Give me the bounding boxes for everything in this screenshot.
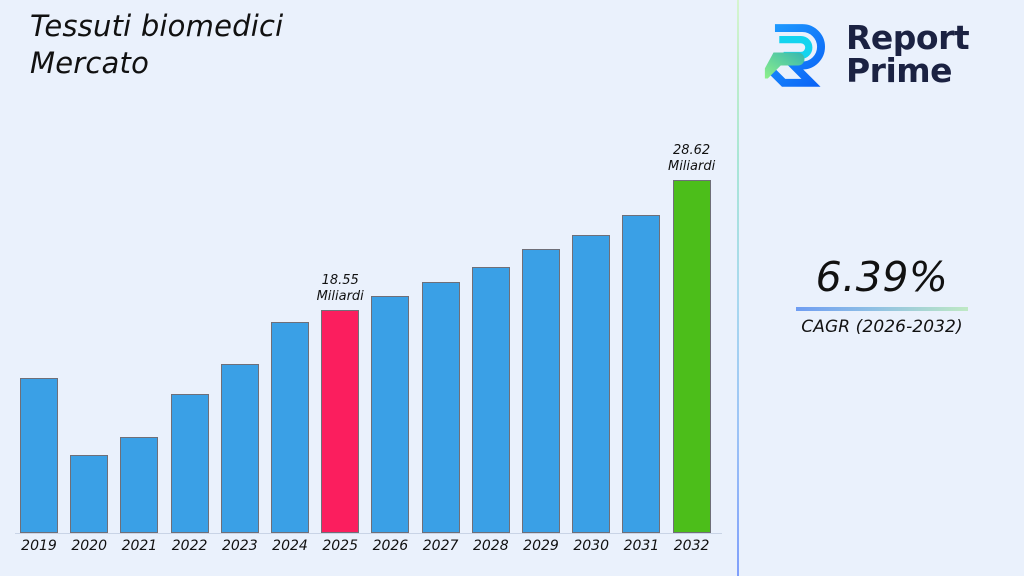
x-tick-2026: 2026 (371, 538, 409, 554)
bar-group (422, 282, 460, 533)
bar-group (120, 437, 158, 533)
bar-2030[interactable] (572, 235, 610, 533)
x-tick-2022: 2022 (171, 538, 209, 554)
panel-divider (737, 0, 739, 576)
bar-2029[interactable] (522, 249, 560, 533)
bar-value-label-2025: 18.55 Miliardi (317, 273, 364, 304)
x-tick-2027: 2027 (422, 538, 460, 554)
chart-panel: Tessuti biomedici Mercato 18.55 Miliardi… (0, 0, 738, 576)
bar-value-label-2032: 28.62 Miliardi (668, 143, 715, 174)
bar-2023[interactable] (221, 364, 259, 533)
bar-2032[interactable] (673, 180, 711, 533)
bar-group (572, 235, 610, 533)
cagr-caption: CAGR (2026-2032) (740, 317, 1024, 337)
x-tick-2024: 2024 (271, 538, 309, 554)
bar-group: 18.55 Miliardi (321, 310, 359, 533)
bar-2026[interactable] (371, 296, 409, 533)
report-prime-logo-icon (762, 18, 834, 90)
cagr-value: 6.39% (740, 255, 1024, 300)
bar-chart-plot-area: 18.55 Miliardi28.62 Miliardi 20192020202… (0, 0, 738, 576)
bar-group: 28.62 Miliardi (673, 180, 711, 533)
brand-logo: Report Prime (762, 12, 1012, 96)
bar-2027[interactable] (422, 282, 460, 533)
x-tick-2021: 2021 (120, 538, 158, 554)
x-tick-2032: 2032 (673, 538, 711, 554)
x-tick-2020: 2020 (70, 538, 108, 554)
cagr-block: 6.39% CAGR (2026-2032) (740, 255, 1024, 337)
bar-2028[interactable] (472, 267, 510, 533)
x-tick-2023: 2023 (221, 538, 259, 554)
x-tick-2031: 2031 (622, 538, 660, 554)
bar-2022[interactable] (171, 394, 209, 533)
x-axis-line (15, 533, 722, 534)
bar-2019[interactable] (20, 378, 58, 533)
bar-2025[interactable] (321, 310, 359, 533)
bar-2020[interactable] (70, 455, 108, 533)
bar-group (70, 455, 108, 533)
infographic-root: Tessuti biomedici Mercato 18.55 Miliardi… (0, 0, 1024, 576)
cagr-divider-rule (796, 307, 968, 311)
x-tick-2029: 2029 (522, 538, 560, 554)
bar-2021[interactable] (120, 437, 158, 533)
bar-group (522, 249, 560, 533)
x-tick-2030: 2030 (572, 538, 610, 554)
bar-group (271, 322, 309, 533)
bar-group (20, 378, 58, 533)
bar-group (221, 364, 259, 533)
bar-group (622, 215, 660, 533)
bar-2024[interactable] (271, 322, 309, 533)
x-tick-2025: 2025 (321, 538, 359, 554)
bar-group (171, 394, 209, 533)
info-panel: Report Prime 6.39% CAGR (2026-2032) (740, 0, 1024, 576)
brand-name: Report Prime (846, 21, 969, 87)
x-tick-2028: 2028 (472, 538, 510, 554)
bar-group (472, 267, 510, 533)
bar-2031[interactable] (622, 215, 660, 533)
bar-group (371, 296, 409, 533)
x-tick-2019: 2019 (20, 538, 58, 554)
